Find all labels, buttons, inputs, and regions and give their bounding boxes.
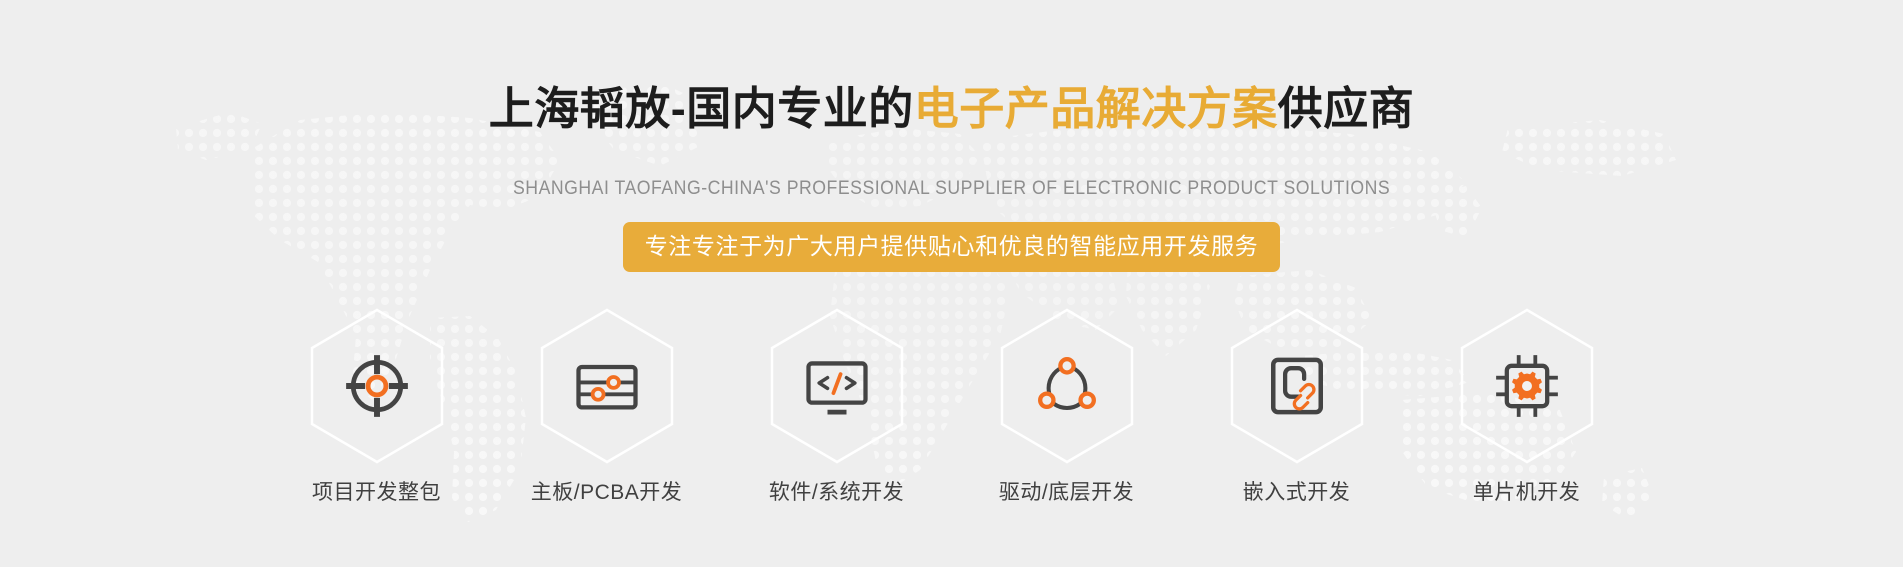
tagline-badge: 专注专注于为广大用户提供贴心和优良的智能应用开发服务 [623, 222, 1281, 272]
headline-accent: 电子产品解决方案 [914, 83, 1278, 134]
hexagon-frame [997, 306, 1137, 466]
service-item-driver[interactable]: 驱动/底层开发 [972, 306, 1162, 503]
service-label: 项目开发整包 [312, 482, 441, 503]
service-label: 单片机开发 [1473, 482, 1581, 503]
hexagon-frame [767, 306, 907, 466]
service-item-embedded[interactable]: 嵌入式开发 [1202, 306, 1392, 503]
service-list: 项目开发整包 [282, 306, 1622, 503]
node-network-icon [1029, 348, 1105, 424]
hexagon-frame [537, 306, 677, 466]
hexagon-frame [307, 306, 447, 466]
hero-banner: 上海韬放-国内专业的电子产品解决方案供应商 SHANGHAI TAOFANG-C… [0, 0, 1903, 567]
service-item-mcu[interactable]: 单片机开发 [1432, 306, 1622, 503]
hexagon-frame [1457, 306, 1597, 466]
crosshair-target-icon [339, 348, 415, 424]
chip-link-icon [1259, 348, 1335, 424]
service-item-project-package[interactable]: 项目开发整包 [282, 306, 472, 503]
monitor-code-icon [799, 348, 875, 424]
service-label: 主板/PCBA开发 [531, 482, 683, 503]
service-item-pcba[interactable]: 主板/PCBA开发 [512, 306, 702, 503]
headline-part-3: 供应商 [1278, 83, 1415, 134]
service-label: 驱动/底层开发 [999, 482, 1134, 503]
hexagon-frame [1227, 306, 1367, 466]
service-label: 软件/系统开发 [769, 482, 904, 503]
service-item-software[interactable]: 软件/系统开发 [742, 306, 932, 503]
microcontroller-gear-icon [1489, 348, 1565, 424]
circuit-board-icon [569, 348, 645, 424]
page-subtitle: SHANGHAI TAOFANG-CHINA'S PROFESSIONAL SU… [513, 178, 1390, 200]
service-label: 嵌入式开发 [1243, 482, 1351, 503]
headline-part-1: 上海韬放-国内专业的 [489, 83, 914, 134]
tagline-wrapper: 专注专注于为广大用户提供贴心和优良的智能应用开发服务 [623, 222, 1281, 272]
page-title: 上海韬放-国内专业的电子产品解决方案供应商 [489, 86, 1415, 131]
